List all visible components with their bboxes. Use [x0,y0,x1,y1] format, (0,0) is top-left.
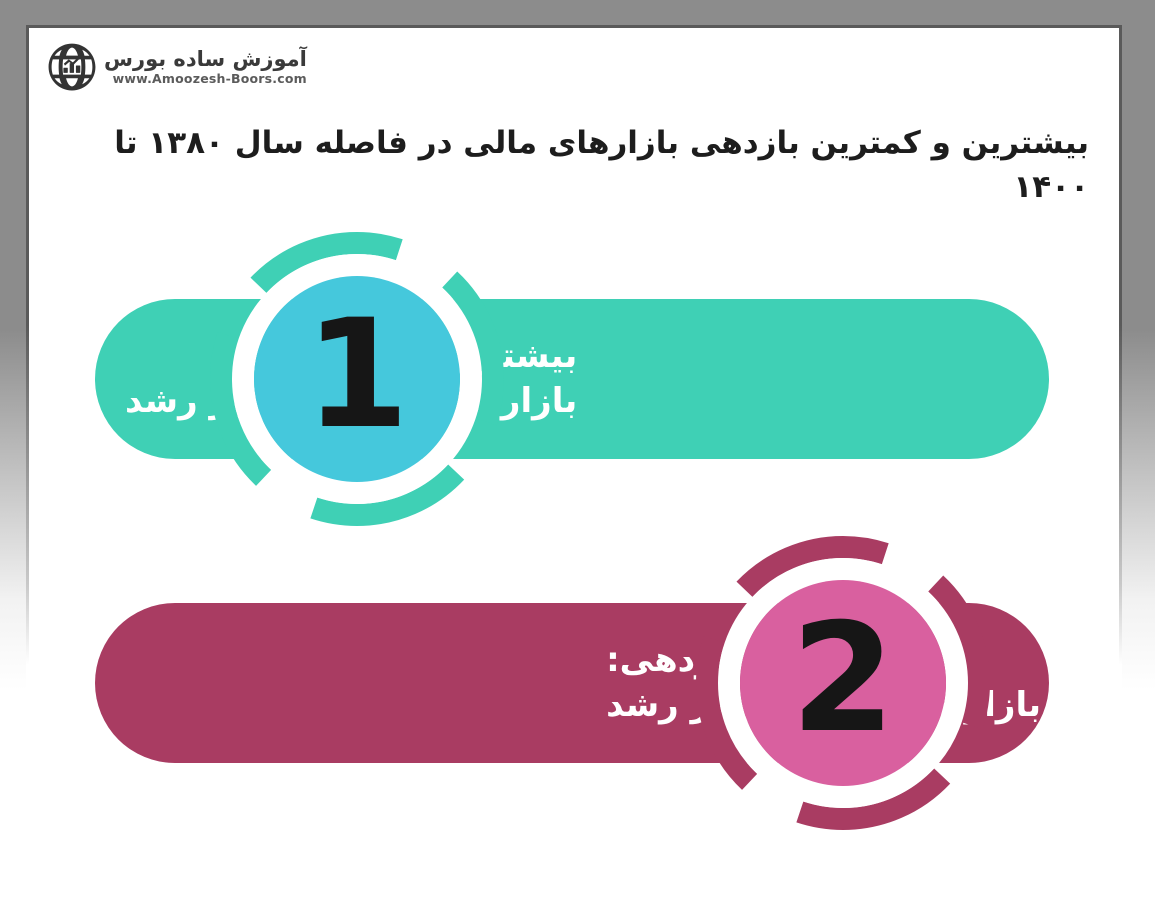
rank-number-1: 1 [207,229,507,529]
page-title: بیشترین و کمترین بازدهی بازارهای مالی در… [29,121,1089,209]
rank-badge-1: 1 [207,229,507,529]
rank-badge-2: 2 [693,533,993,833]
brand-name: آموزش ساده بورس [104,49,307,70]
matte-top [0,0,1155,26]
frame-border-right [1119,25,1122,665]
matte-right [1122,0,1155,690]
matte-left [0,0,26,690]
rank-number-2: 2 [693,533,993,833]
card-rank-1: بیشترین بازدهی: بازار بورس؛ ۳۸۲ برابر رش… [29,224,1119,524]
brand-website: www.Amoozesh-Boors.com [113,73,307,86]
globe-bar-chart-icon [47,42,97,92]
brand-logo: آموزش ساده بورس www.Amoozesh-Boors.com [47,42,307,92]
brand-text: آموزش ساده بورس www.Amoozesh-Boors.com [104,49,307,86]
infographic-poster: آموزش ساده بورس www.Amoozesh-Boors.com ب… [0,0,1155,917]
poster-canvas: آموزش ساده بورس www.Amoozesh-Boors.com ب… [29,28,1119,917]
card-rank-2: کمترین بازدهی: بازار خودرو؛ ۲۸ برابر رشد… [29,528,1119,828]
